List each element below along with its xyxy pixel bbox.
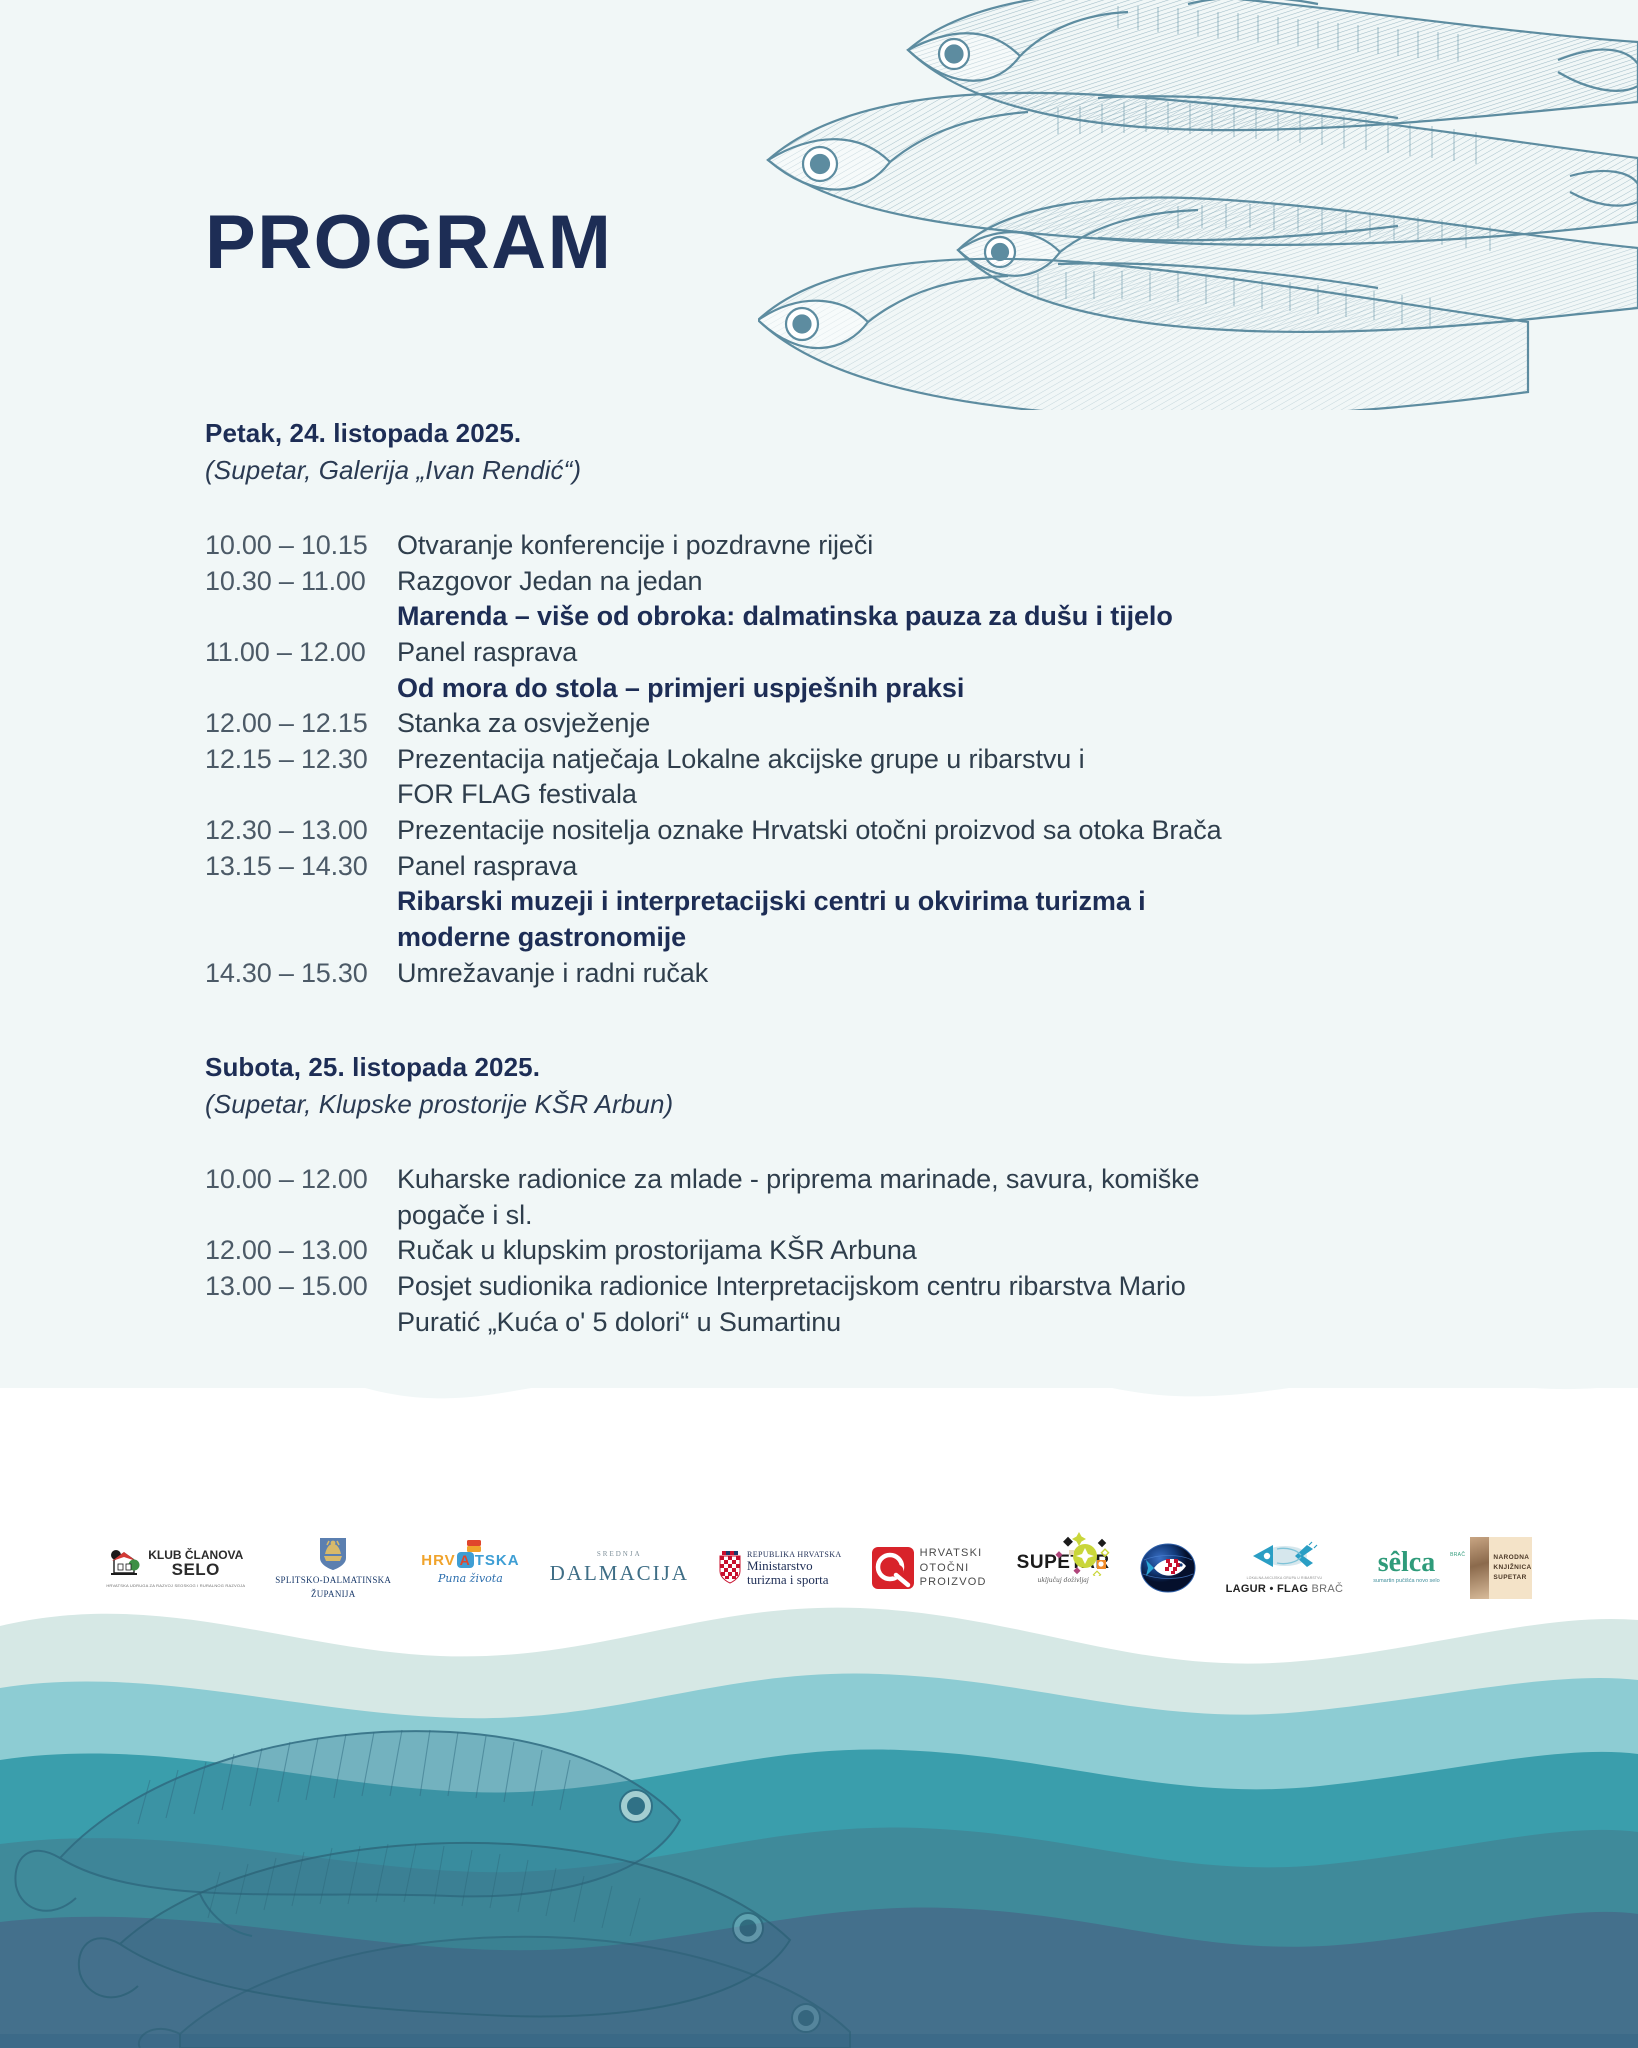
logo-line2: DALMACIJA: [550, 1561, 689, 1586]
schedule-row: 10.00 – 12.00 Kuharske radionice za mlad…: [205, 1162, 1405, 1198]
day-title: Subota, 25. listopada 2025.: [205, 1052, 1405, 1083]
hop-wordmark: HRVATSKI OTOČNI PROIZVOD: [920, 1546, 987, 1591]
logo-line2: SELO: [148, 1561, 243, 1578]
page-title: PROGRAM: [205, 205, 612, 281]
logo-selca-brac: sêlca BRAČ sumartin pučišća novo selo: [1373, 1525, 1439, 1611]
row-time: 12.15 – 12.30: [205, 742, 397, 778]
row-description: Prezentacije nositelja oznake Hrvatski o…: [397, 813, 1405, 849]
logo-hrvatski-otocni-proizvod: HRVATSKI OTOČNI PROIZVOD: [872, 1525, 987, 1611]
logo-line1: HRVATSKI: [920, 1546, 987, 1561]
schedule-row: 12.00 – 12.15 Stanka za osvježenje: [205, 706, 1405, 742]
row-description: Kuharske radionice za mlade - priprema m…: [397, 1162, 1405, 1198]
knjiznica-wordmark: NARODNA KNJIŽNICA SUPETAR: [1489, 1553, 1531, 1582]
selo-house-icon: [108, 1548, 142, 1578]
row-description: Umrežavanje i radni ručak: [397, 956, 1405, 992]
logo-line3: sumartin pučišća novo selo: [1373, 1578, 1439, 1585]
logo-micro-text: LOKALNA AKCIJSKA GRUPA U RIBARSTVU: [1247, 1576, 1323, 1580]
logo-hrvatska-puna-zivota: HRVATSKA Puna života: [421, 1525, 519, 1611]
supetar-confetti-icon: [1051, 1526, 1115, 1576]
schedule-row: 11.00 – 12.00 Panel rasprava: [205, 635, 1405, 671]
schedule-rows-friday: 10.00 – 10.15 Otvaranje konferencije i p…: [205, 528, 1405, 991]
lagur-wordmark: LAGUR • FLAG BRAČ: [1226, 1583, 1344, 1595]
knjiznica-plate: NARODNA KNJIŽNICA SUPETAR: [1470, 1537, 1532, 1599]
row-description: Panel rasprava: [397, 635, 1405, 671]
wave-footer-graphic: [0, 1388, 1638, 2048]
logo-line1: SPLITSKO-DALMATINSKA: [275, 1575, 391, 1586]
day-block-saturday: Subota, 25. listopada 2025. (Supetar, Kl…: [205, 1052, 1405, 1340]
logo-klub-clanova-selo: KLUB ČLANOVA SELO HRVATSKA UDRUGA ZA RAZ…: [106, 1525, 245, 1611]
row-time: 12.00 – 12.15: [205, 706, 397, 742]
row-continuation: pogače i sl.: [397, 1198, 1405, 1234]
row-subtitle: Marenda – više od obroka: dalmatinska pa…: [397, 599, 1405, 635]
logo-srednja-dalmacija: SREDNJA DALMACIJA: [550, 1525, 689, 1611]
logo-line1: LAGUR • FLAG: [1226, 1583, 1309, 1595]
schedule-row: 14.30 – 15.30 Umrežavanje i radni ručak: [205, 956, 1405, 992]
logo-ministarstvo-turizma-i-sporta: REPUBLIKA HRVATSKA Ministarstvo turizma …: [719, 1525, 842, 1611]
county-coat-of-arms-icon: [318, 1536, 348, 1572]
row-continuation: Puratić „Kuća o' 5 dolori“ u Sumartinu: [397, 1305, 1405, 1341]
logo-line3: PROIZVOD: [920, 1575, 987, 1590]
logo-line3: turizma i sporta: [747, 1573, 842, 1587]
logo-line2: Puna života: [438, 1572, 503, 1585]
row-time: 14.30 – 15.30: [205, 956, 397, 992]
logo-lagur-flag-brac: LOKALNA AKCIJSKA GRUPA U RIBARSTVU LAGUR…: [1226, 1525, 1344, 1611]
row-time: 10.30 – 11.00: [205, 564, 397, 600]
schedule-row: 10.00 – 10.15 Otvaranje konferencije i p…: [205, 528, 1405, 564]
row-time: 12.00 – 13.00: [205, 1233, 397, 1269]
logo-line1: KLUB ČLANOVA: [148, 1549, 243, 1561]
row-time: 10.00 – 10.15: [205, 528, 397, 564]
logo-line1: NARODNA: [1493, 1553, 1531, 1563]
hrvatska-flag-icon: [467, 1540, 481, 1553]
logo-line1: SREDNJA: [597, 1550, 642, 1558]
sponsor-logo-strip: KLUB ČLANOVA SELO HRVATSKA UDRUGA ZA RAZ…: [0, 1513, 1638, 1623]
selo-wordmark: KLUB ČLANOVA SELO: [148, 1549, 243, 1578]
day-venue: (Supetar, Klupske prostorije KŠR Arbun): [205, 1089, 1405, 1120]
logo-line3: SUPETAR: [1493, 1573, 1531, 1583]
logo-line2: OTOČNI: [920, 1561, 987, 1576]
logo-splitsko-dalmatinska-zupanija: SPLITSKO-DALMATINSKA ŽUPANIJA: [275, 1525, 391, 1611]
row-subtitle-line2: moderne gastronomije: [397, 920, 1405, 956]
row-description: Stanka za osvježenje: [397, 706, 1405, 742]
poster-page: PROGRAM Petak, 24. listopada 2025. (Supe…: [0, 0, 1638, 2048]
row-description: Posjet sudionika radionice Interpretacij…: [397, 1269, 1405, 1305]
hrvatska-wordmark: HRVATSKA: [421, 1552, 519, 1569]
logo-narodna-knjiznica-supetar: NARODNA KNJIŽNICA SUPETAR: [1470, 1525, 1532, 1611]
logo-line2: BRAČ: [1312, 1583, 1344, 1595]
row-continuation: FOR FLAG festivala: [397, 777, 1405, 813]
row-subtitle: Od mora do stola – primjeri uspješnih pr…: [397, 671, 1405, 707]
row-description: Razgovor Jedan na jedan: [397, 564, 1405, 600]
schedule-row: 12.30 – 13.00 Prezentacije nositelja ozn…: [205, 813, 1405, 849]
row-description: Panel rasprava: [397, 849, 1405, 885]
schedule-row: 13.15 – 14.30 Panel rasprava: [205, 849, 1405, 885]
logo-line2: ŽUPANIJA: [311, 1589, 356, 1600]
schedule-row: 10.30 – 11.00 Razgovor Jedan na jedan: [205, 564, 1405, 600]
ministry-wordmark: REPUBLIKA HRVATSKA Ministarstvo turizma …: [747, 1550, 842, 1586]
globe-fish-emblem-icon: [1140, 1542, 1196, 1594]
logo-line2: uključuj doživljaj: [1037, 1577, 1088, 1584]
logo-line2: Ministarstvo: [747, 1559, 842, 1573]
schedule-row: 12.00 – 13.00 Ručak u klupskim prostorij…: [205, 1233, 1405, 1269]
day-block-friday: Petak, 24. listopada 2025. (Supetar, Gal…: [205, 418, 1405, 991]
row-subtitle: Ribarski muzeji i interpretacijski centr…: [397, 884, 1405, 920]
row-time: 13.00 – 15.00: [205, 1269, 397, 1305]
fish-illustration-top: [758, 0, 1638, 410]
logo-line1: sêlca: [1378, 1550, 1436, 1575]
row-description: Ručak u klupskim prostorijama KŠR Arbuna: [397, 1233, 1405, 1269]
schedule-rows-saturday: 10.00 – 12.00 Kuharske radionice za mlad…: [205, 1162, 1405, 1340]
knjiznica-photo: [1470, 1537, 1490, 1599]
hop-mark-icon: [872, 1547, 914, 1589]
day-title: Petak, 24. listopada 2025.: [205, 418, 1405, 449]
row-time: 12.30 – 13.00: [205, 813, 397, 849]
row-description: Otvaranje konferencije i pozdravne riječ…: [397, 528, 1405, 564]
croatian-coat-of-arms-icon: [719, 1551, 741, 1585]
schedule-row: 13.00 – 15.00 Posjet sudionika radionice…: [205, 1269, 1405, 1305]
row-time: 11.00 – 12.00: [205, 635, 397, 671]
logo-supetar: SUPETAR uključuj doživljaj: [1017, 1525, 1110, 1611]
day-venue: (Supetar, Galerija „Ivan Rendić“): [205, 455, 1405, 486]
logo-micro-text: HRVATSKA UDRUGA ZA RAZVOJ SEOSKOG I RURA…: [106, 1583, 245, 1588]
logo-line2: BRAČ: [1450, 1552, 1465, 1558]
row-time: 13.15 – 14.30: [205, 849, 397, 885]
logo-line2: KNJIŽNICA: [1493, 1563, 1531, 1573]
schedule-row: 12.15 – 12.30 Prezentacija natječaja Lok…: [205, 742, 1405, 778]
lagur-fish-icon: [1247, 1541, 1321, 1573]
row-time: 10.00 – 12.00: [205, 1162, 397, 1198]
row-description: Prezentacija natječaja Lokalne akcijske …: [397, 742, 1405, 778]
logo-hrvatska-ribarska-mreza: [1140, 1525, 1196, 1611]
